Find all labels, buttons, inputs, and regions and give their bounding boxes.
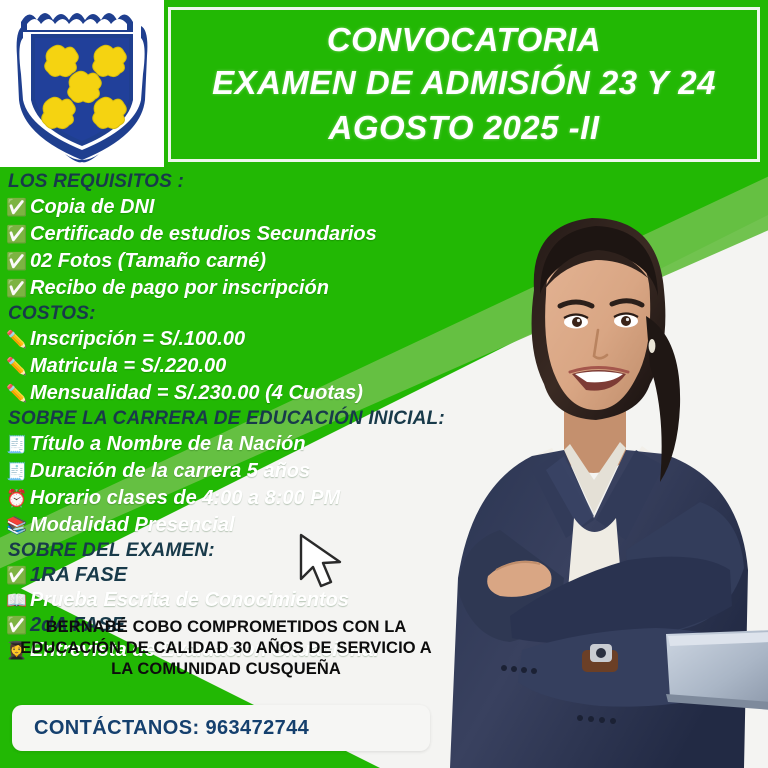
list-item-label: Modalidad Presencial [30,512,235,538]
list-item: ✏️ Matricula = S/.220.00 [6,353,566,380]
crest-panel [0,0,164,167]
check-icon: ✅ [6,222,26,248]
check-icon: ✅ [6,276,26,302]
section-heading-costos: COSTOS: [6,302,566,326]
books-icon: 📚 [6,513,26,539]
list-item: 🧾 Duración de la carrera 5 años [6,458,566,485]
check-icon: ✅ [6,564,26,588]
document-icon: 🧾 [6,459,26,485]
title-banner: CONVOCATORIA EXAMEN DE ADMISIÓN 23 Y 24 … [168,7,760,162]
list-item-label: Inscripción = S/.100.00 [30,326,245,352]
poster-root: CONVOCATORIA EXAMEN DE ADMISIÓN 23 Y 24 … [0,0,768,768]
list-item-label: Duración de la carrera 5 años [30,458,310,484]
alarm-clock-icon: ⏰ [6,486,26,512]
check-icon: ✅ [6,249,26,275]
list-item: ✅ 1RA FASE [6,563,566,588]
list-item: ✅ Certificado de estudios Secundarios [6,221,566,248]
list-item-label: Recibo de pago por inscripción [30,275,329,301]
list-item-label: Matricula = S/.220.00 [30,353,226,379]
section-heading-carrera: SOBRE LA CARRERA DE EDUCACIÓN INICIAL: [6,407,566,431]
list-item-label: Copia de DNI [30,194,154,220]
list-item: 📚 Modalidad Presencial [6,512,566,539]
list-item: ✅ 02 Fotos (Tamaño carné) [6,248,566,275]
list-item: ✅ Recibo de pago por inscripción [6,275,566,302]
pencil-icon: ✏️ [6,354,26,380]
list-item: ✏️ Inscripción = S/.100.00 [6,326,566,353]
list-item: 📖 Prueba Escrita de Conocimientos [6,588,566,613]
list-item-label: Prueba Escrita de Conocimientos [30,588,349,612]
list-item: 🧾 Título a Nombre de la Nación [6,431,566,458]
pencil-icon: ✏️ [6,327,26,353]
section-heading-examen: SOBRE DEL EXAMEN: [6,539,566,563]
list-item-label: Mensualidad = S/.230.00 (4 Cuotas) [30,380,363,406]
document-icon: 🧾 [6,432,26,458]
slogan-block: BERNABÉ COBO COMPROMETIDOS CON LA EDUCAC… [0,617,452,680]
contact-bar[interactable]: CONTÁCTANOS: 963472744 [12,705,430,751]
section-heading-requisitos: LOS REQUISITOS : [6,170,566,194]
title-line-1: CONVOCATORIA [327,20,601,60]
list-item: ✅ Copia de DNI [6,194,566,221]
title-line-3: AGOSTO 2025 -II [329,106,600,150]
list-item-label: Título a Nombre de la Nación [30,431,306,457]
title-line-2: EXAMEN DE ADMISIÓN 23 Y 24 [212,61,716,105]
open-book-icon: 📖 [6,589,26,613]
list-item: ✏️ Mensualidad = S/.230.00 (4 Cuotas) [6,380,566,407]
list-item-label: Horario clases de 4:00 a 8:00 PM [30,485,340,511]
contact-phone-label: CONTÁCTANOS: 963472744 [34,717,309,740]
slogan-line-3: LA COMUNIDAD CUSQUEÑA [0,659,452,680]
list-item-label: 1RA FASE [30,563,127,587]
check-icon: ✅ [6,195,26,221]
requirements-content: LOS REQUISITOS : ✅ Copia de DNI ✅ Certif… [6,170,566,663]
escudo-cusco-icon [7,4,157,164]
slogan-line-1: BERNABÉ COBO COMPROMETIDOS CON LA [0,617,452,638]
list-item-label: 02 Fotos (Tamaño carné) [30,248,266,274]
pencil-icon: ✏️ [6,381,26,407]
list-item-label: Certificado de estudios Secundarios [30,221,377,247]
list-item: ⏰ Horario clases de 4:00 a 8:00 PM [6,485,566,512]
slogan-line-2: EDUCACIÓN DE CALIDAD 30 AÑOS DE SERVICIO… [0,638,452,659]
